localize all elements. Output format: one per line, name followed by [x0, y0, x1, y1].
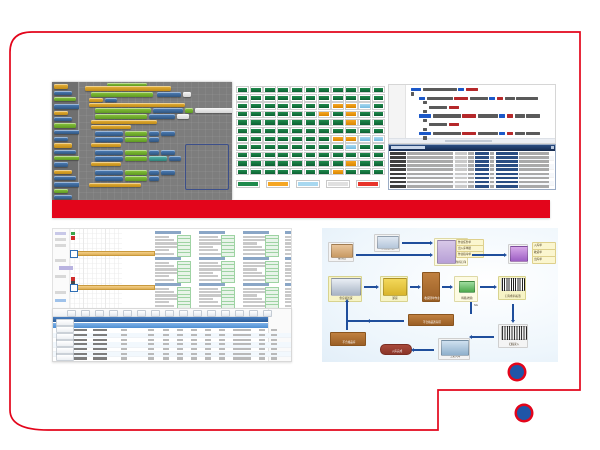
gantt-bar-handle[interactable]: [70, 284, 78, 292]
code-block[interactable]: [177, 114, 189, 119]
code-block[interactable]: [95, 114, 147, 119]
status-cell[interactable]: [358, 168, 371, 175]
table-cell[interactable]: [93, 343, 107, 345]
status-cell[interactable]: [331, 86, 344, 93]
table-cell[interactable]: [148, 329, 154, 331]
code-block[interactable]: [149, 137, 159, 142]
table-cell[interactable]: [259, 339, 265, 341]
code-block[interactable]: [91, 143, 121, 147]
gantt-timeline-grid[interactable]: [70, 229, 122, 309]
status-cell[interactable]: [236, 102, 249, 109]
code-block[interactable]: [157, 92, 181, 97]
code-block[interactable]: [95, 176, 123, 181]
table-cell[interactable]: [163, 353, 169, 355]
status-cell[interactable]: [345, 111, 358, 118]
status-cell[interactable]: [304, 127, 317, 134]
table-cell[interactable]: [219, 343, 225, 345]
status-cell[interactable]: [345, 152, 358, 159]
gantt-resource-chip[interactable]: [55, 275, 66, 278]
code-block[interactable]: [85, 86, 171, 91]
status-cell[interactable]: [372, 135, 385, 142]
block-palette[interactable]: [52, 82, 79, 200]
status-cell[interactable]: [304, 152, 317, 159]
code-block[interactable]: [89, 183, 141, 187]
code-block[interactable]: [149, 156, 167, 161]
table-cell[interactable]: [271, 334, 277, 336]
palette-block[interactable]: [54, 123, 76, 128]
status-cell[interactable]: [250, 102, 263, 109]
status-cell[interactable]: [250, 168, 263, 175]
code-block[interactable]: [125, 137, 147, 142]
table-cell[interactable]: [121, 357, 127, 359]
code-horizontal-scrollbar[interactable]: [389, 138, 555, 143]
status-cell[interactable]: [358, 102, 371, 109]
table-cell[interactable]: [245, 329, 251, 331]
table-cell[interactable]: [191, 329, 197, 331]
status-cell[interactable]: [318, 102, 331, 109]
table-cell[interactable]: [205, 334, 211, 336]
palette-block[interactable]: [54, 84, 68, 89]
status-cell[interactable]: [331, 135, 344, 142]
table-cell[interactable]: [148, 357, 154, 359]
status-cell[interactable]: [372, 143, 385, 150]
palette-block[interactable]: [54, 176, 76, 180]
code-block[interactable]: [125, 176, 147, 181]
status-cell[interactable]: [290, 119, 303, 126]
table-cell[interactable]: [93, 348, 107, 350]
palette-block[interactable]: [54, 143, 72, 148]
table-cell[interactable]: [148, 353, 154, 355]
table-cell[interactable]: [177, 353, 183, 355]
status-cell[interactable]: [358, 152, 371, 159]
table-toolbar-button[interactable]: [151, 310, 160, 317]
block-canvas[interactable]: [79, 82, 232, 200]
status-cell[interactable]: [372, 127, 385, 134]
table-cell[interactable]: [73, 343, 87, 345]
flow-node-done[interactable]: 入库完成: [380, 344, 412, 355]
table-toolbar-button[interactable]: [67, 310, 76, 317]
gantt-resource-chip[interactable]: [55, 259, 66, 262]
status-cell[interactable]: [236, 119, 249, 126]
status-cell[interactable]: [304, 135, 317, 142]
status-cell[interactable]: [331, 152, 344, 159]
code-block[interactable]: [105, 98, 117, 102]
table-toolbar-button[interactable]: [81, 310, 90, 317]
table-cell[interactable]: [191, 334, 197, 336]
table-toolbar-button[interactable]: [95, 310, 104, 317]
status-cell[interactable]: [345, 119, 358, 126]
status-cell[interactable]: [236, 135, 249, 142]
status-cell[interactable]: [358, 94, 371, 101]
status-cell[interactable]: [263, 143, 276, 150]
code-block[interactable]: [125, 150, 147, 155]
table-cell[interactable]: [205, 343, 211, 345]
status-cell[interactable]: [277, 86, 290, 93]
table-cell[interactable]: [219, 353, 225, 355]
gantt-resource-chip[interactable]: [55, 291, 66, 294]
gantt-resource-chip[interactable]: [55, 299, 66, 302]
status-cell[interactable]: [331, 168, 344, 175]
status-cell[interactable]: [263, 168, 276, 175]
status-cell[interactable]: [358, 143, 371, 150]
table-cell[interactable]: [191, 343, 197, 345]
code-block[interactable]: [125, 170, 147, 175]
table-cell[interactable]: [148, 339, 154, 341]
code-block[interactable]: [95, 170, 123, 175]
status-cell[interactable]: [331, 127, 344, 134]
flow-node-reject-store[interactable]: 不合格品库: [330, 332, 366, 346]
code-block[interactable]: [161, 131, 175, 136]
palette-block[interactable]: [54, 130, 80, 134]
table-cell[interactable]: [163, 339, 169, 341]
table-cell[interactable]: [177, 334, 183, 336]
palette-block[interactable]: [54, 182, 80, 187]
table-cell[interactable]: [271, 357, 277, 359]
table-cell[interactable]: [219, 357, 225, 359]
table-toolbar-button[interactable]: [137, 310, 146, 317]
status-cell[interactable]: [345, 143, 358, 150]
table-cell[interactable]: [121, 329, 127, 331]
table-cell[interactable]: [73, 329, 87, 331]
status-cell[interactable]: [250, 135, 263, 142]
table-cell[interactable]: [259, 343, 265, 345]
table-side-button[interactable]: [56, 354, 74, 361]
code-block[interactable]: [89, 103, 185, 107]
table-cell[interactable]: [205, 348, 211, 350]
code-block[interactable]: [125, 131, 147, 136]
gantt-resource-chip[interactable]: [55, 244, 66, 247]
table-cell[interactable]: [259, 357, 265, 359]
status-cell[interactable]: [263, 102, 276, 109]
status-cell[interactable]: [290, 127, 303, 134]
table-cell[interactable]: [163, 334, 169, 336]
status-cell[interactable]: [263, 135, 276, 142]
status-cell[interactable]: [250, 127, 263, 134]
status-cell[interactable]: [372, 94, 385, 101]
panel-data-table[interactable]: [52, 308, 292, 362]
status-cell[interactable]: [372, 111, 385, 118]
flow-node-receive[interactable]: 收货理单作业: [422, 272, 440, 302]
status-cell[interactable]: [236, 160, 249, 167]
palette-block[interactable]: [54, 117, 72, 121]
table-cell[interactable]: [271, 339, 277, 341]
status-cell[interactable]: [372, 102, 385, 109]
table-row[interactable]: [53, 361, 291, 362]
table-cell[interactable]: [205, 339, 211, 341]
code-block[interactable]: [169, 156, 181, 161]
table-cell[interactable]: [191, 357, 197, 359]
palette-block[interactable]: [54, 156, 80, 160]
table-cell[interactable]: [93, 334, 107, 336]
table-cell[interactable]: [163, 348, 169, 350]
table-cell[interactable]: [177, 348, 183, 350]
status-cell[interactable]: [372, 119, 385, 126]
table-cell[interactable]: [177, 343, 183, 345]
table-cell[interactable]: [163, 357, 169, 359]
status-cell[interactable]: [263, 94, 276, 101]
status-cell[interactable]: [250, 160, 263, 167]
status-cell[interactable]: [318, 111, 331, 118]
status-cell[interactable]: [236, 94, 249, 101]
table-cell[interactable]: [121, 353, 127, 355]
table-cell[interactable]: [93, 339, 107, 341]
table-cell[interactable]: [148, 334, 154, 336]
panel-status-grid[interactable]: [236, 86, 386, 176]
table-cell[interactable]: [259, 334, 265, 336]
code-block[interactable]: [149, 114, 175, 119]
table-cell[interactable]: [205, 357, 211, 359]
status-cell[interactable]: [236, 168, 249, 175]
code-block[interactable]: [91, 162, 121, 166]
table-toolbar-button[interactable]: [235, 310, 244, 317]
status-cell[interactable]: [277, 102, 290, 109]
status-cell[interactable]: [345, 135, 358, 142]
status-cell[interactable]: [345, 160, 358, 167]
status-cell[interactable]: [358, 111, 371, 118]
code-block[interactable]: [149, 131, 159, 136]
status-cell[interactable]: [345, 127, 358, 134]
palette-block[interactable]: [54, 195, 72, 199]
table-toolbar-button[interactable]: [221, 310, 230, 317]
code-block[interactable]: [95, 137, 123, 142]
status-cell[interactable]: [331, 119, 344, 126]
palette-block[interactable]: [54, 150, 76, 154]
palette-block[interactable]: [54, 162, 68, 167]
status-cell[interactable]: [290, 86, 303, 93]
status-cell[interactable]: [236, 152, 249, 159]
status-cell[interactable]: [250, 119, 263, 126]
table-cell[interactable]: [191, 353, 197, 355]
table-toolbar-button[interactable]: [249, 310, 258, 317]
status-cell[interactable]: [372, 152, 385, 159]
status-cell[interactable]: [304, 111, 317, 118]
table-toolbar-button[interactable]: [263, 310, 272, 317]
code-block[interactable]: [153, 108, 183, 113]
table-cell[interactable]: [271, 329, 277, 331]
table-cell[interactable]: [148, 348, 154, 350]
table-cell[interactable]: [245, 339, 251, 341]
status-cell[interactable]: [277, 119, 290, 126]
table-cell[interactable]: [191, 339, 197, 341]
code-block[interactable]: [161, 150, 175, 155]
palette-block[interactable]: [54, 111, 68, 115]
table-cell[interactable]: [121, 343, 127, 345]
code-block[interactable]: [95, 156, 123, 161]
table-toolbar-button[interactable]: [109, 310, 118, 317]
code-block[interactable]: [185, 108, 193, 113]
status-cell[interactable]: [304, 94, 317, 101]
status-cell[interactable]: [318, 127, 331, 134]
status-cell[interactable]: [304, 86, 317, 93]
code-block[interactable]: [183, 92, 191, 97]
table-cell[interactable]: [219, 339, 225, 341]
code-block[interactable]: [95, 108, 151, 113]
table-cell[interactable]: [148, 343, 154, 345]
status-cell[interactable]: [277, 127, 290, 134]
table-toolbar-button[interactable]: [165, 310, 174, 317]
status-cell[interactable]: [318, 94, 331, 101]
console-log-row[interactable]: [390, 185, 554, 190]
status-cell[interactable]: [318, 168, 331, 175]
table-cell[interactable]: [163, 329, 169, 331]
status-cell[interactable]: [358, 135, 371, 142]
code-block[interactable]: [149, 170, 159, 175]
table-cell[interactable]: [245, 353, 251, 355]
status-cell[interactable]: [304, 160, 317, 167]
code-block[interactable]: [89, 98, 103, 102]
gantt-bar[interactable]: [77, 251, 155, 256]
status-cell[interactable]: [290, 135, 303, 142]
status-cell[interactable]: [263, 119, 276, 126]
table-cell[interactable]: [219, 329, 225, 331]
table-cell[interactable]: [93, 353, 107, 355]
panel-logistics-flow-diagram[interactable]: 操作员系统服务器管理信息终端与条码打印作业任务单出入库单据作业指令单标签打印入库…: [322, 228, 558, 362]
table-selected-row[interactable]: [53, 323, 291, 328]
gantt-resource-chip[interactable]: [55, 232, 66, 235]
code-block[interactable]: [161, 170, 175, 175]
palette-block[interactable]: [54, 91, 72, 95]
status-cell[interactable]: [304, 168, 317, 175]
table-cell[interactable]: [191, 348, 197, 350]
panel-output-console[interactable]: [388, 144, 556, 190]
table-cell[interactable]: [271, 343, 277, 345]
code-block[interactable]: [91, 92, 153, 97]
status-cell[interactable]: [372, 168, 385, 175]
table-cell[interactable]: [205, 329, 211, 331]
table-cell[interactable]: [177, 357, 183, 359]
gantt-bar[interactable]: [77, 285, 155, 290]
status-cell[interactable]: [263, 127, 276, 134]
status-cell[interactable]: [236, 111, 249, 118]
table-side-button[interactable]: [56, 340, 74, 347]
status-cell[interactable]: [250, 152, 263, 159]
status-cell[interactable]: [358, 127, 371, 134]
status-cell[interactable]: [263, 111, 276, 118]
table-cell[interactable]: [93, 357, 107, 359]
table-cell[interactable]: [245, 348, 251, 350]
table-cell[interactable]: [219, 334, 225, 336]
status-cell[interactable]: [304, 102, 317, 109]
table-toolbar-button[interactable]: [179, 310, 188, 317]
code-block[interactable]: [195, 108, 232, 113]
status-cell[interactable]: [318, 119, 331, 126]
status-cell[interactable]: [290, 152, 303, 159]
status-cell[interactable]: [345, 168, 358, 175]
table-cell[interactable]: [121, 348, 127, 350]
table-toolbar-button[interactable]: [123, 310, 132, 317]
palette-block[interactable]: [54, 189, 68, 193]
status-cell[interactable]: [290, 168, 303, 175]
status-cell[interactable]: [358, 86, 371, 93]
status-cell[interactable]: [290, 94, 303, 101]
code-block[interactable]: [91, 125, 131, 129]
status-cell[interactable]: [372, 86, 385, 93]
status-cell[interactable]: [250, 111, 263, 118]
status-cell[interactable]: [236, 127, 249, 134]
status-cell[interactable]: [331, 102, 344, 109]
status-cell[interactable]: [290, 111, 303, 118]
table-cell[interactable]: [259, 329, 265, 331]
palette-block[interactable]: [54, 137, 68, 141]
status-cell[interactable]: [277, 143, 290, 150]
table-cell[interactable]: [73, 348, 87, 350]
status-cell[interactable]: [331, 143, 344, 150]
code-block[interactable]: [149, 150, 159, 155]
status-cell[interactable]: [277, 94, 290, 101]
table-cell[interactable]: [121, 334, 127, 336]
status-cell[interactable]: [290, 102, 303, 109]
status-cell[interactable]: [318, 152, 331, 159]
palette-block[interactable]: [54, 97, 76, 101]
panel-code-editor[interactable]: [388, 84, 556, 144]
status-cell[interactable]: [318, 143, 331, 150]
flow-node-reject-area[interactable]: 不合格品暂存区: [408, 314, 454, 326]
status-cell[interactable]: [277, 111, 290, 118]
status-cell[interactable]: [358, 119, 371, 126]
gantt-bar-handle[interactable]: [70, 250, 78, 258]
table-cell[interactable]: [177, 339, 183, 341]
status-cell[interactable]: [263, 86, 276, 93]
status-cell[interactable]: [277, 152, 290, 159]
table-cell[interactable]: [259, 348, 265, 350]
table-cell[interactable]: [73, 339, 87, 341]
status-cell[interactable]: [250, 86, 263, 93]
code-block[interactable]: [91, 120, 157, 124]
code-block[interactable]: [149, 176, 159, 181]
table-cell[interactable]: [73, 357, 87, 359]
table-cell[interactable]: [245, 343, 251, 345]
table-cell[interactable]: [271, 348, 277, 350]
palette-block[interactable]: [54, 104, 80, 109]
status-cell[interactable]: [290, 160, 303, 167]
status-cell[interactable]: [263, 160, 276, 167]
table-cell[interactable]: [245, 357, 251, 359]
status-cell[interactable]: [304, 143, 317, 150]
code-block[interactable]: [125, 156, 147, 161]
table-cell[interactable]: [73, 334, 87, 336]
table-side-button[interactable]: [56, 319, 74, 326]
status-cell[interactable]: [331, 94, 344, 101]
status-cell[interactable]: [290, 143, 303, 150]
gantt-resource-chip[interactable]: [55, 238, 66, 241]
status-cell[interactable]: [250, 143, 263, 150]
status-cell[interactable]: [304, 119, 317, 126]
panel-gantt-scheduler[interactable]: [52, 228, 292, 310]
table-side-button[interactable]: [56, 333, 74, 340]
status-cell[interactable]: [331, 160, 344, 167]
table-cell[interactable]: [259, 353, 265, 355]
table-cell[interactable]: [271, 353, 277, 355]
table-cell[interactable]: [121, 339, 127, 341]
status-cell[interactable]: [236, 86, 249, 93]
status-cell[interactable]: [263, 152, 276, 159]
table-cell[interactable]: [73, 353, 87, 355]
table-cell[interactable]: [177, 329, 183, 331]
status-cell[interactable]: [345, 94, 358, 101]
table-side-button[interactable]: [56, 347, 74, 354]
status-cell[interactable]: [331, 111, 344, 118]
status-cell[interactable]: [277, 160, 290, 167]
panel-blockly-editor[interactable]: [52, 82, 232, 200]
status-cell[interactable]: [277, 168, 290, 175]
status-cell[interactable]: [318, 86, 331, 93]
table-cell[interactable]: [205, 353, 211, 355]
table-side-button[interactable]: [56, 326, 74, 333]
table-cell[interactable]: [245, 334, 251, 336]
table-toolbar-button[interactable]: [207, 310, 216, 317]
status-cell[interactable]: [318, 160, 331, 167]
status-cell[interactable]: [277, 135, 290, 142]
